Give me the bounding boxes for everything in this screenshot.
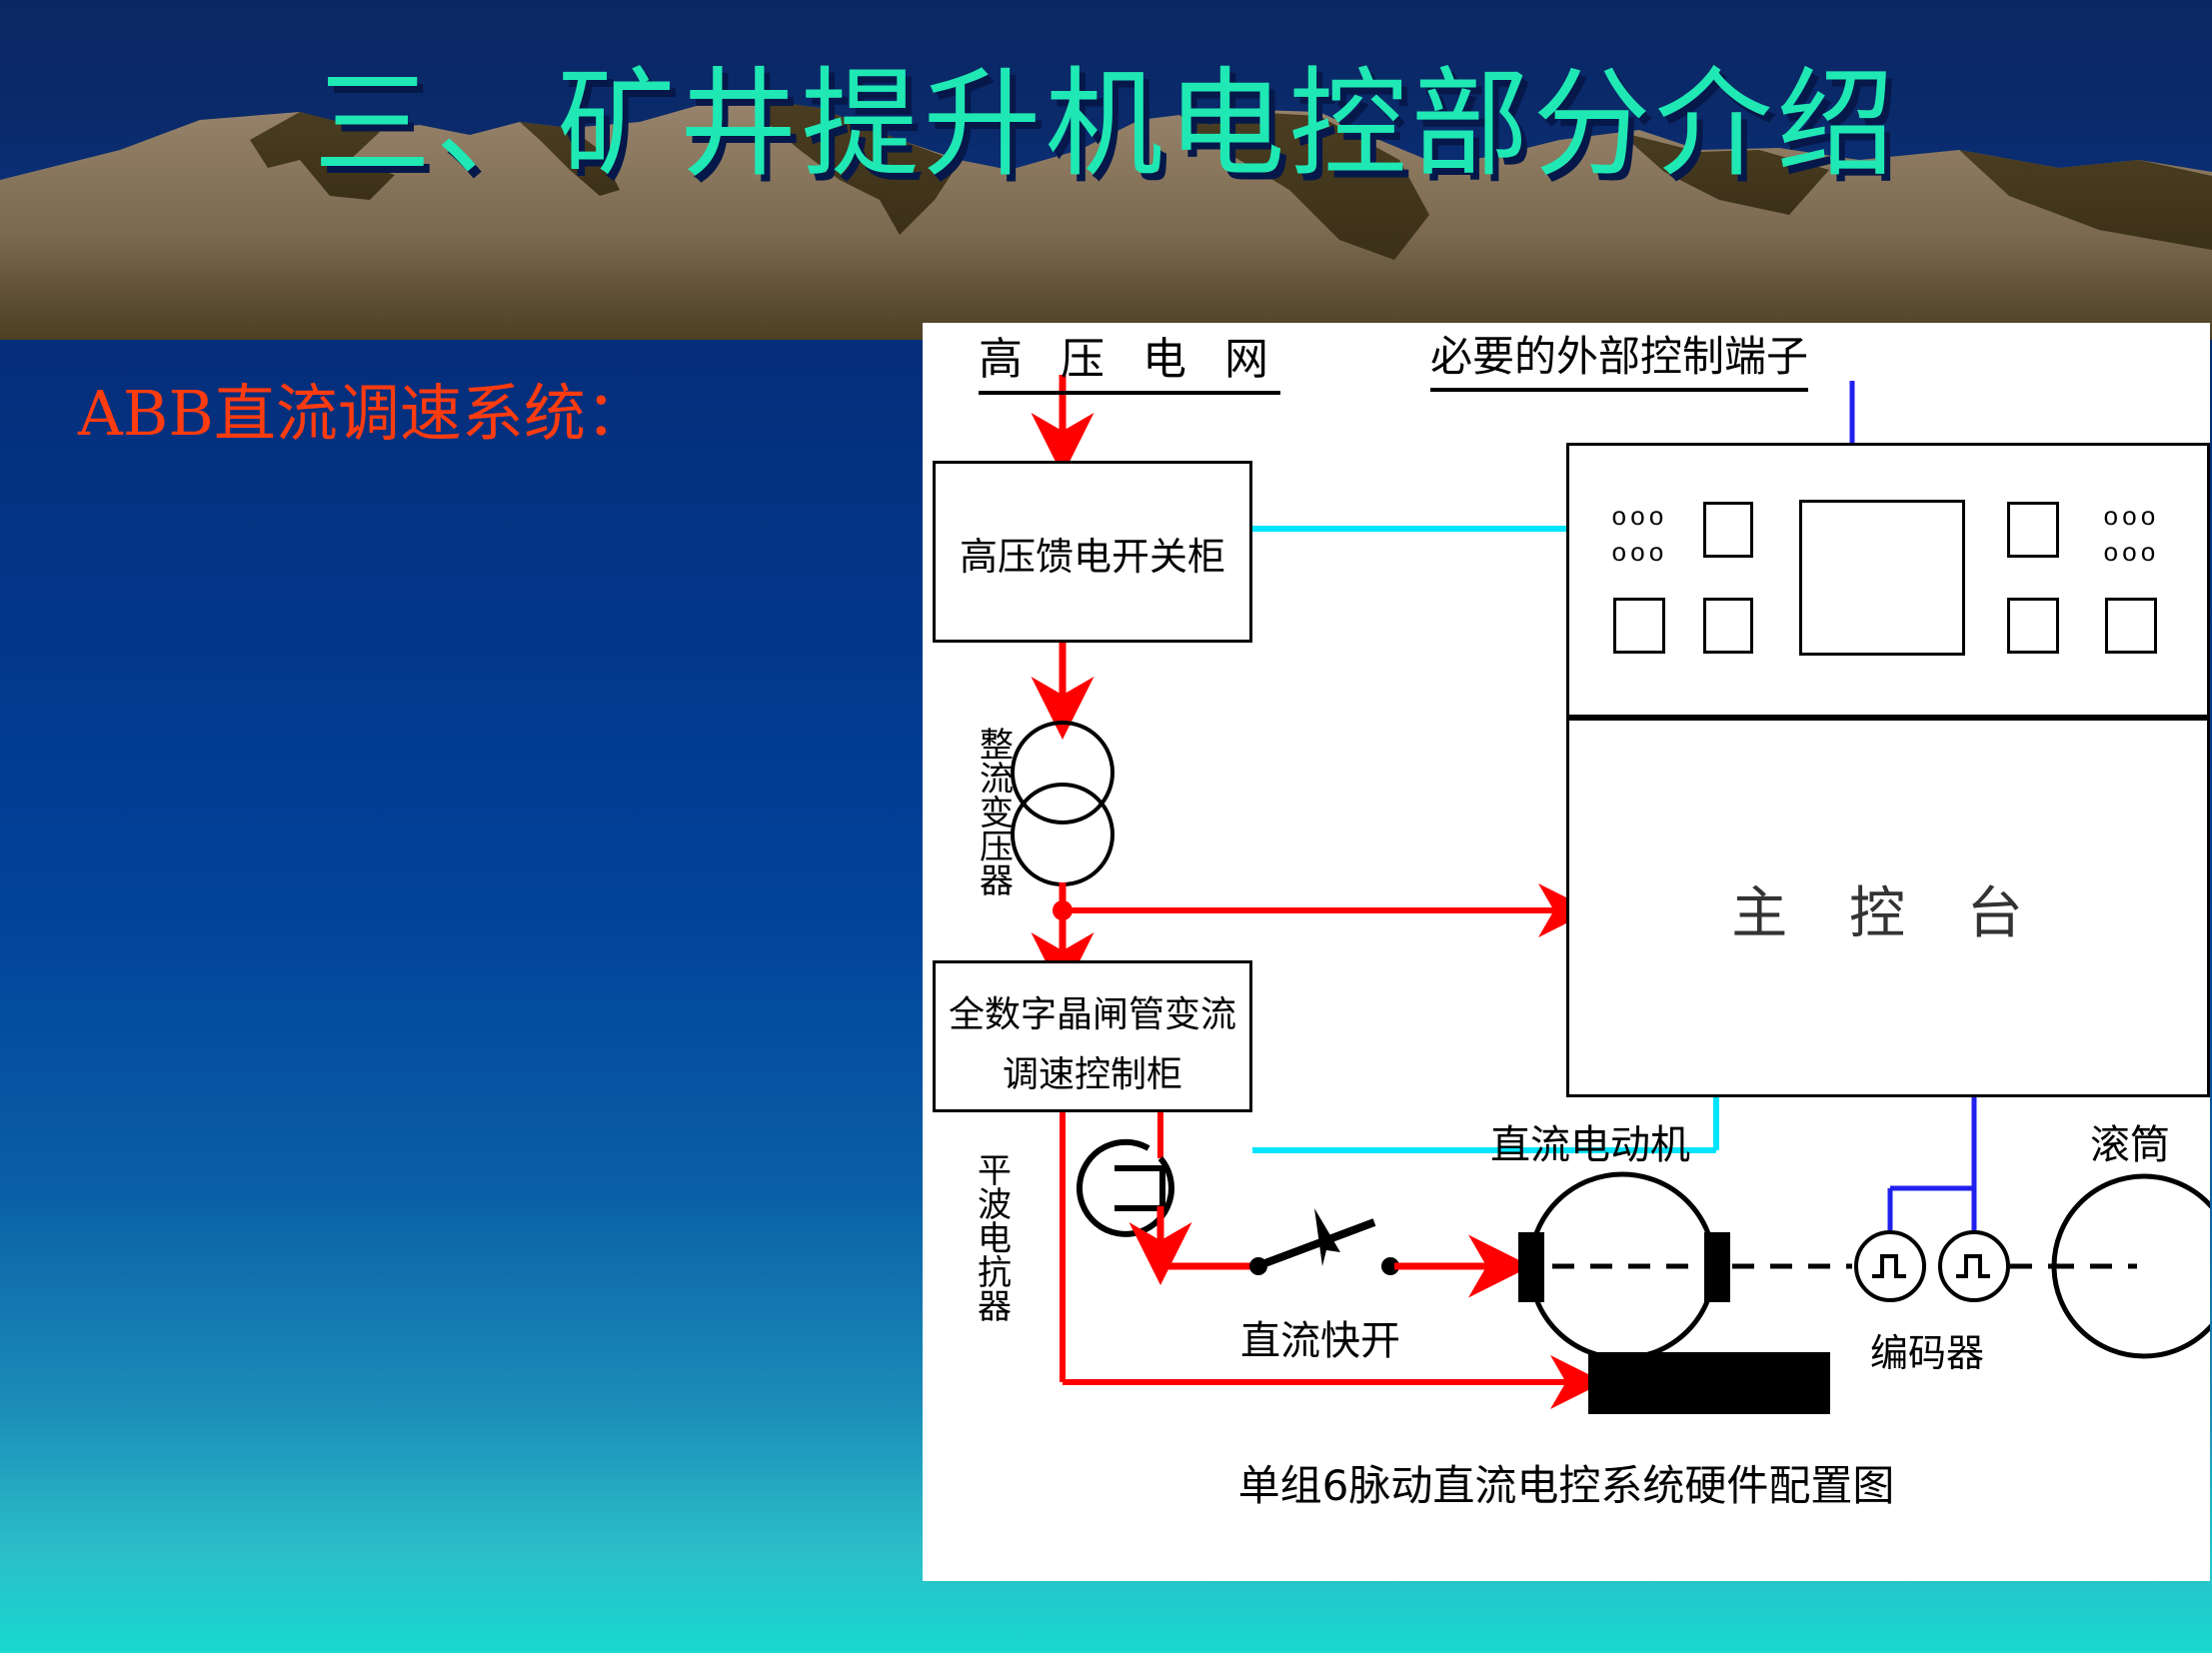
slide-canvas: 三、矿井提升机电控部分介绍 ABB直流调速系统： [0,0,2212,1653]
main-console-label: 主 控 台 [1569,868,2207,949]
label-high-voltage-grid: 高 压 电 网 [979,323,1280,395]
console-display-screen[interactable] [1799,500,1965,656]
console-button-4[interactable] [2007,502,2059,558]
thyristor-converter-cabinet: 全数字晶闸管变流 调速控制柜 [933,960,1252,1112]
main-console-body: 主 控 台 [1566,718,2210,1097]
console-indicator-row-left-top: ᴏᴏᴏ [1611,502,1667,533]
page-title: 三、矿井提升机电控部分介绍 [0,58,2212,190]
console-button-2[interactable] [1613,598,1665,654]
thyristor-cabinet-line1: 全数字晶闸管变流 [936,985,1249,1037]
label-rectifier-transformer: 整流变压器 [977,729,1017,898]
console-button-1[interactable] [1703,502,1753,558]
label-encoder: 编码器 [1870,1322,1984,1377]
hardware-configuration-diagram: 高 压 电 网 必要的外部控制端子 高压馈电开关柜 整流变压器 全数字晶闸管变流… [923,323,2210,1581]
console-button-5[interactable] [2007,598,2059,654]
label-dc-motor: 直流电动机 [1490,1112,1690,1170]
console-button-6[interactable] [2105,598,2157,654]
system-caption: ABB直流调速系统： [78,380,648,448]
console-button-3[interactable] [1703,598,1753,654]
label-external-control-terminals: 必要的外部控制端子 [1430,323,1808,392]
console-upper-panel: ᴏᴏᴏ ᴏᴏᴏ ᴏᴏᴏ ᴏᴏᴏ [1566,443,2210,718]
label-smoothing-reactor: 平波电抗器 [975,1154,1015,1324]
console-indicator-row-left-bottom: ᴏᴏᴏ [1611,538,1667,569]
label-drum: 滚筒 [2090,1112,2170,1170]
thyristor-cabinet-line2: 调速控制柜 [936,1045,1249,1097]
console-indicator-row-right-bottom: ᴏᴏᴏ [2103,538,2159,569]
console-indicator-row-right-top: ᴏᴏᴏ [2103,502,2159,533]
label-dc-quick-switch: 直流快开 [1240,1308,1400,1366]
figure-caption: 单组6脉动直流电控系统硬件配置图 [923,1452,2210,1513]
hv-switchgear-box: 高压馈电开关柜 [933,461,1252,643]
hv-switchgear-label: 高压馈电开关柜 [936,526,1249,581]
